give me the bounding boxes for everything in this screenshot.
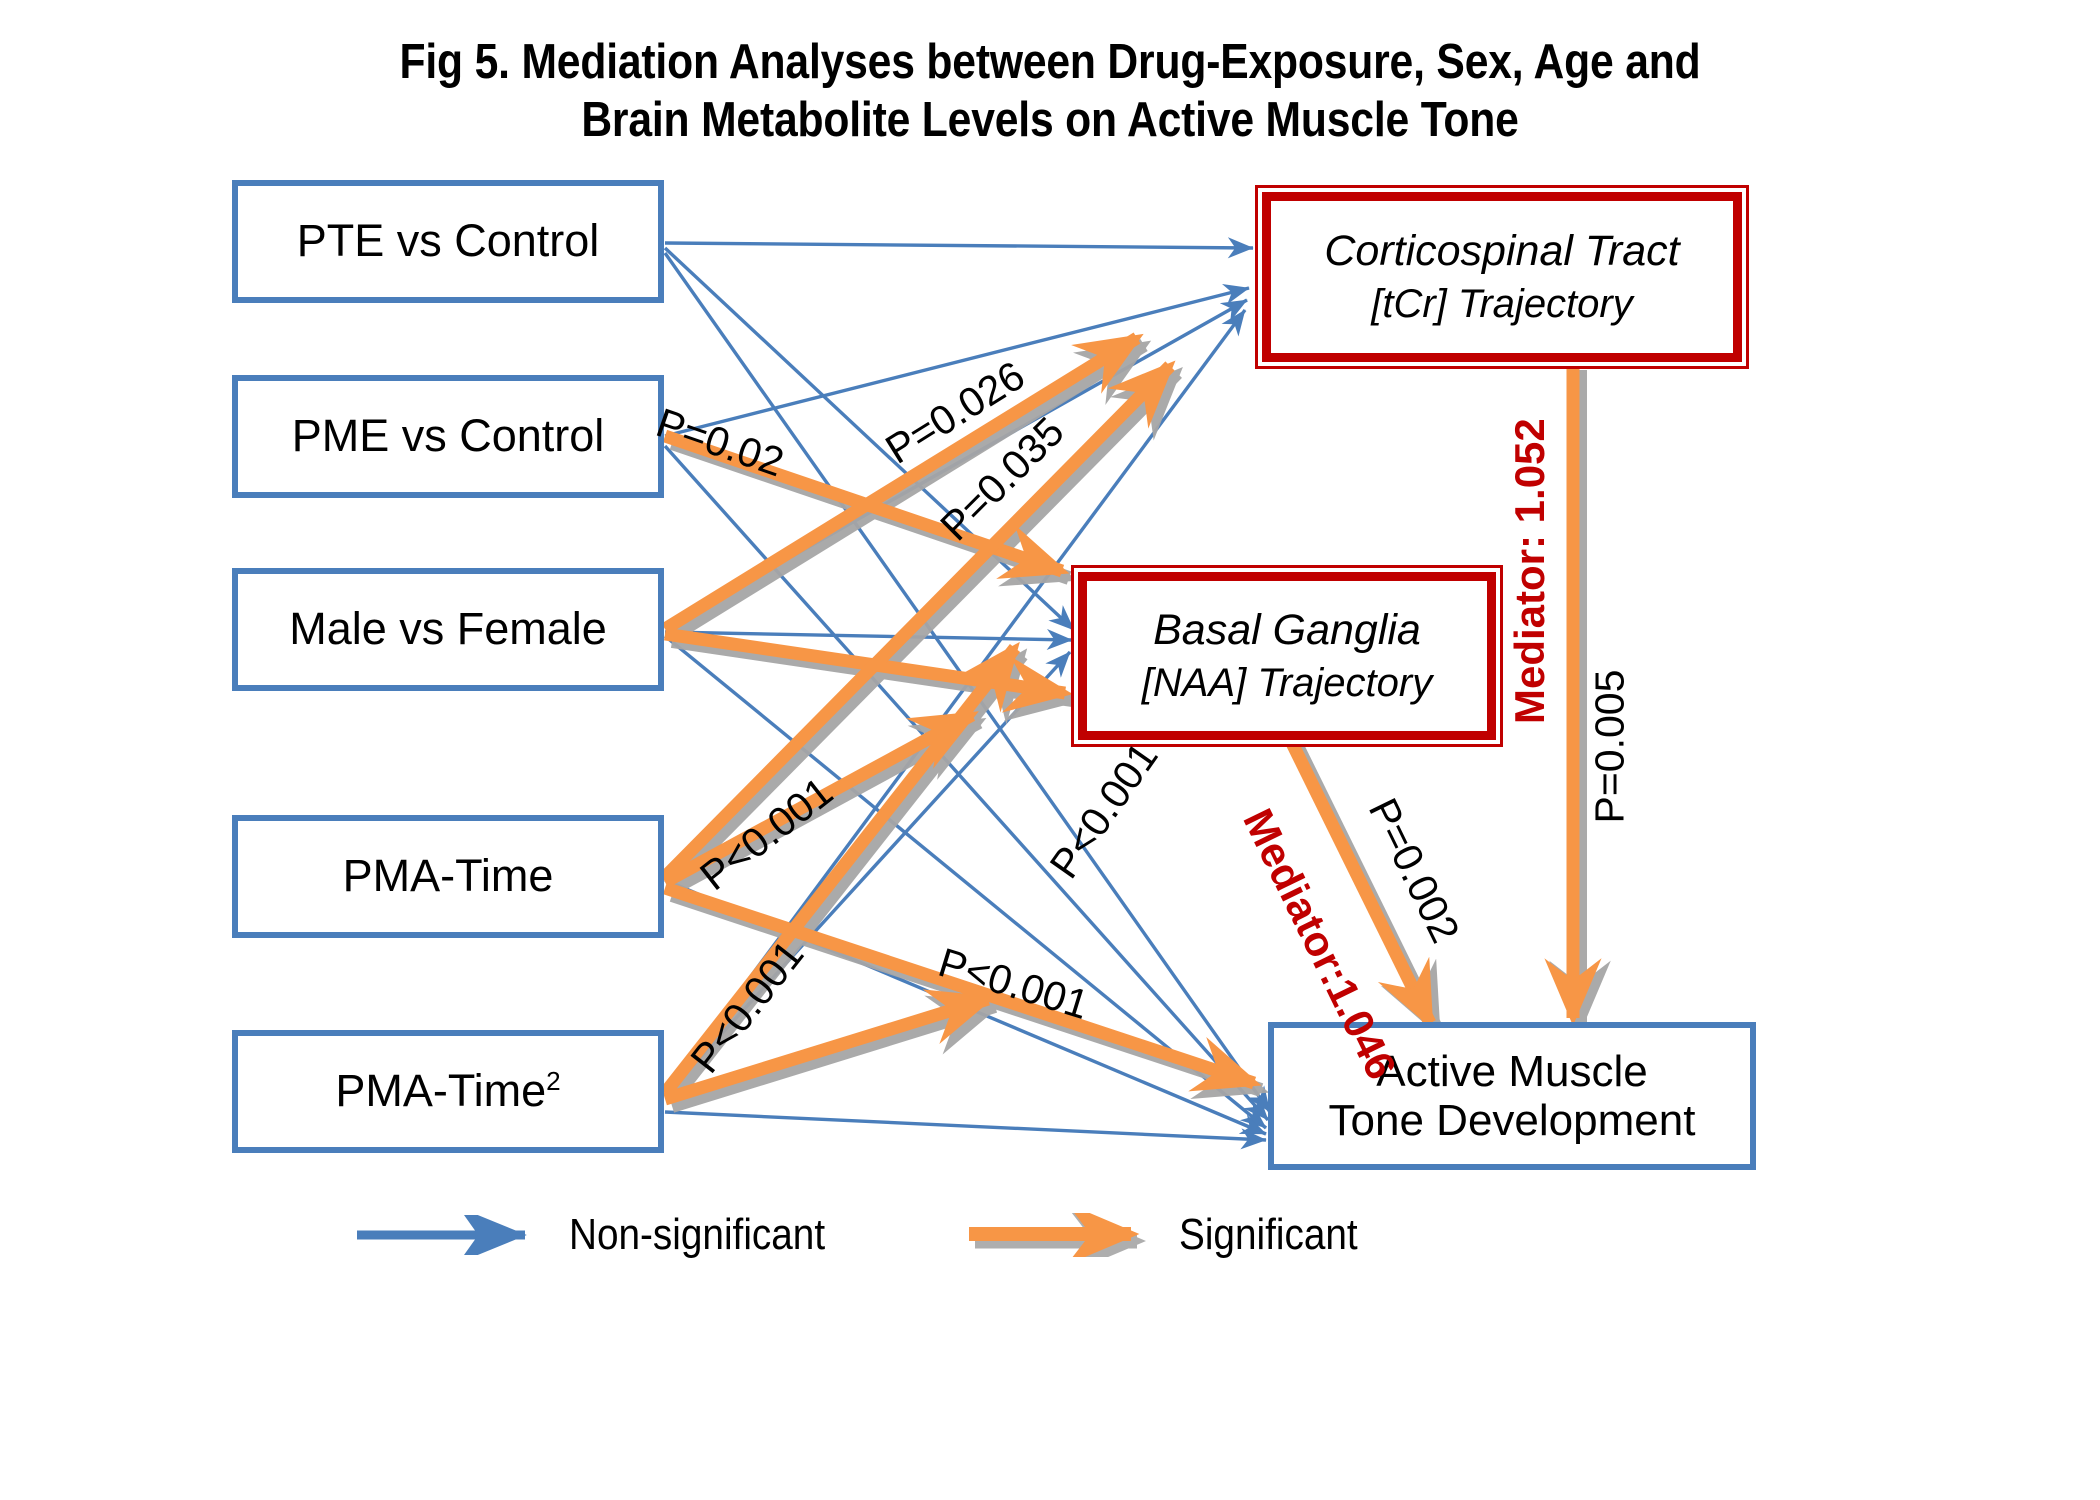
cst-line2: [tCr] Trajectory [1271, 279, 1733, 329]
node-pte-label: PTE vs Control [238, 216, 658, 266]
edge-label-p-0002: P=0.002 [1359, 791, 1469, 950]
node-pme-label: PME vs Control [238, 411, 658, 461]
edge-label-p-002: P=0.02 [650, 399, 789, 486]
edge-time2-amt [665, 1112, 1266, 1140]
node-corticospinal-tract[interactable]: Corticospinal Tract [tCr] Trajectory [1262, 192, 1742, 362]
cst-line1: Corticospinal Tract [1271, 225, 1733, 279]
edge-sex-cst-sig [665, 338, 1137, 629]
legend-nonsignificant-label: Non-significant [569, 1210, 825, 1260]
amt-line2: Tone Development [1329, 1096, 1696, 1145]
node-pma-time[interactable]: PMA-Time [232, 815, 664, 938]
figure-canvas: Fig 5. Mediation Analyses between Drug-E… [0, 0, 2100, 1500]
node-sex-label: Male vs Female [238, 604, 658, 654]
figure-title-line2: Brain Metabolite Levels on Active Muscle… [137, 92, 1964, 150]
node-basal-ganglia[interactable]: Basal Ganglia [NAA] Trajectory [1078, 572, 1496, 740]
edge-pte-cst [665, 243, 1253, 248]
legend-nonsignificant-arrow-icon [355, 1215, 555, 1255]
amt-line1: Active Muscle [1376, 1047, 1647, 1096]
node-active-muscle-tone-label: Active Muscle Tone Development [1274, 1047, 1750, 1146]
edge-sex-bg [665, 632, 1072, 640]
superscript-two: 2 [546, 1066, 561, 1096]
mediator-label-cst: Mediator: 1.052 [1506, 418, 1554, 724]
node-corticospinal-tract-label: Corticospinal Tract [tCr] Trajectory [1271, 225, 1733, 329]
node-pma-time-squared[interactable]: PMA-Time2 [232, 1030, 664, 1153]
legend-significant-label: Significant [1179, 1210, 1358, 1260]
edge-sex-bg-sig [665, 634, 1065, 693]
node-pma-time-squared-label: PMA-Time2 [238, 1066, 658, 1116]
edge-label-p-lt001-time-bg: P<0.001 [681, 932, 813, 1082]
legend-significant-arrow-icon [965, 1213, 1165, 1257]
figure-title-line1: Fig 5. Mediation Analyses between Drug-E… [400, 35, 1701, 89]
node-pme[interactable]: PME vs Control [232, 375, 664, 498]
bg-line2: [NAA] Trajectory [1087, 658, 1487, 708]
bg-line1: Basal Ganglia [1087, 604, 1487, 658]
legend-nonsignificant: Non-significant [355, 1210, 860, 1260]
node-sex[interactable]: Male vs Female [232, 568, 664, 691]
node-basal-ganglia-label: Basal Ganglia [NAA] Trajectory [1087, 604, 1487, 708]
edge-label-p-lt001-time2-amt: P<0.001 [1041, 734, 1168, 887]
edge-label-p-lt001-time-amt: P<0.001 [933, 939, 1094, 1029]
node-pma-time-label: PMA-Time [238, 851, 658, 901]
edge-label-p-0005: P=0.005 [1587, 670, 1634, 824]
legend-significant: Significant [965, 1210, 1382, 1260]
node-pte[interactable]: PTE vs Control [232, 180, 664, 303]
node-pma-time-squared-base: PMA-Time [335, 1065, 546, 1116]
figure-title: Fig 5. Mediation Analyses between Drug-E… [137, 34, 1964, 150]
edge-label-p-lt001-sex-bg: P<0.001 [692, 768, 842, 900]
